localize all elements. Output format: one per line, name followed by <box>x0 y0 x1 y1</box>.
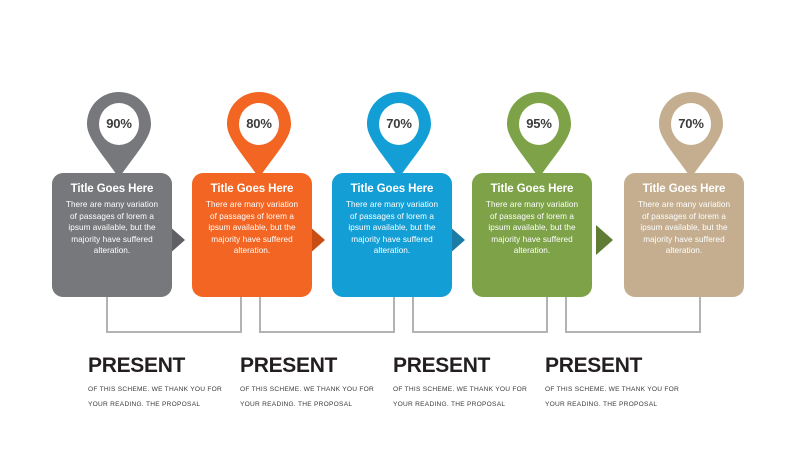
step-card-1[interactable]: Title Goes Here There are many variation… <box>52 173 172 297</box>
footnote-title-2: PRESENT <box>240 355 390 377</box>
bracket-left-leg-2 <box>259 297 261 333</box>
card-body-2: There are many variation of passages of … <box>200 199 304 257</box>
bracket-right-leg-2 <box>393 297 395 333</box>
step-card-3[interactable]: Title Goes Here There are many variation… <box>332 173 452 297</box>
step-card-2[interactable]: Title Goes Here There are many variation… <box>192 173 312 297</box>
map-pin-icon-1 <box>83 90 155 180</box>
pin-2[interactable]: 80% <box>223 90 295 180</box>
card-title-5: Title Goes Here <box>632 182 736 196</box>
pin-percent-4: 95% <box>503 116 575 131</box>
step-card-4[interactable]: Title Goes Here There are many variation… <box>472 173 592 297</box>
bracket-base-3 <box>412 331 548 333</box>
pin-percent-1: 90% <box>83 116 155 131</box>
footnote-block-4: PRESENT OF THIS SCHEME. WE THANK YOU FOR… <box>545 355 695 412</box>
footnote-subtitle-3: OF THIS SCHEME. WE THANK YOU FOR YOUR RE… <box>393 383 543 412</box>
footnote-title-1: PRESENT <box>88 355 238 377</box>
bracket-right-leg-3 <box>546 297 548 333</box>
pin-4[interactable]: 95% <box>503 90 575 180</box>
map-pin-icon-4 <box>503 90 575 180</box>
card-title-3: Title Goes Here <box>340 182 444 196</box>
footnote-title-3: PRESENT <box>393 355 543 377</box>
pin-percent-2: 80% <box>223 116 295 131</box>
pin-3[interactable]: 70% <box>363 90 435 180</box>
bracket-base-4 <box>565 331 701 333</box>
pin-5[interactable]: 70% <box>655 90 727 180</box>
bracket-connector-2 <box>259 297 395 333</box>
infographic-slide: 90% 80% 70% 95% 70% Title Goes <box>0 0 800 450</box>
bracket-left-leg-3 <box>412 297 414 333</box>
bracket-connector-4 <box>565 297 701 333</box>
card-body-5: There are many variation of passages of … <box>632 199 736 257</box>
map-pin-icon-2 <box>223 90 295 180</box>
footnote-block-1: PRESENT OF THIS SCHEME. WE THANK YOU FOR… <box>88 355 238 412</box>
footnote-title-4: PRESENT <box>545 355 695 377</box>
bracket-base-1 <box>106 331 242 333</box>
card-title-1: Title Goes Here <box>60 182 164 196</box>
footnote-block-3: PRESENT OF THIS SCHEME. WE THANK YOU FOR… <box>393 355 543 412</box>
map-pin-icon-5 <box>655 90 727 180</box>
footnote-subtitle-4: OF THIS SCHEME. WE THANK YOU FOR YOUR RE… <box>545 383 695 412</box>
footnote-subtitle-2: OF THIS SCHEME. WE THANK YOU FOR YOUR RE… <box>240 383 390 412</box>
pin-percent-5: 70% <box>655 116 727 131</box>
map-pin-icon-3 <box>363 90 435 180</box>
bracket-connector-1 <box>106 297 242 333</box>
bracket-left-leg-4 <box>565 297 567 333</box>
step-arrow-4 <box>596 225 613 255</box>
card-title-2: Title Goes Here <box>200 182 304 196</box>
footnote-subtitle-1: OF THIS SCHEME. WE THANK YOU FOR YOUR RE… <box>88 383 238 412</box>
bracket-connector-3 <box>412 297 548 333</box>
footnote-block-2: PRESENT OF THIS SCHEME. WE THANK YOU FOR… <box>240 355 390 412</box>
bracket-left-leg-1 <box>106 297 108 333</box>
bracket-right-leg-1 <box>240 297 242 333</box>
bracket-right-leg-4 <box>699 297 701 333</box>
card-body-3: There are many variation of passages of … <box>340 199 444 257</box>
pin-1[interactable]: 90% <box>83 90 155 180</box>
card-title-4: Title Goes Here <box>480 182 584 196</box>
bracket-base-2 <box>259 331 395 333</box>
step-card-5[interactable]: Title Goes Here There are many variation… <box>624 173 744 297</box>
pin-percent-3: 70% <box>363 116 435 131</box>
card-body-4: There are many variation of passages of … <box>480 199 584 257</box>
card-body-1: There are many variation of passages of … <box>60 199 164 257</box>
